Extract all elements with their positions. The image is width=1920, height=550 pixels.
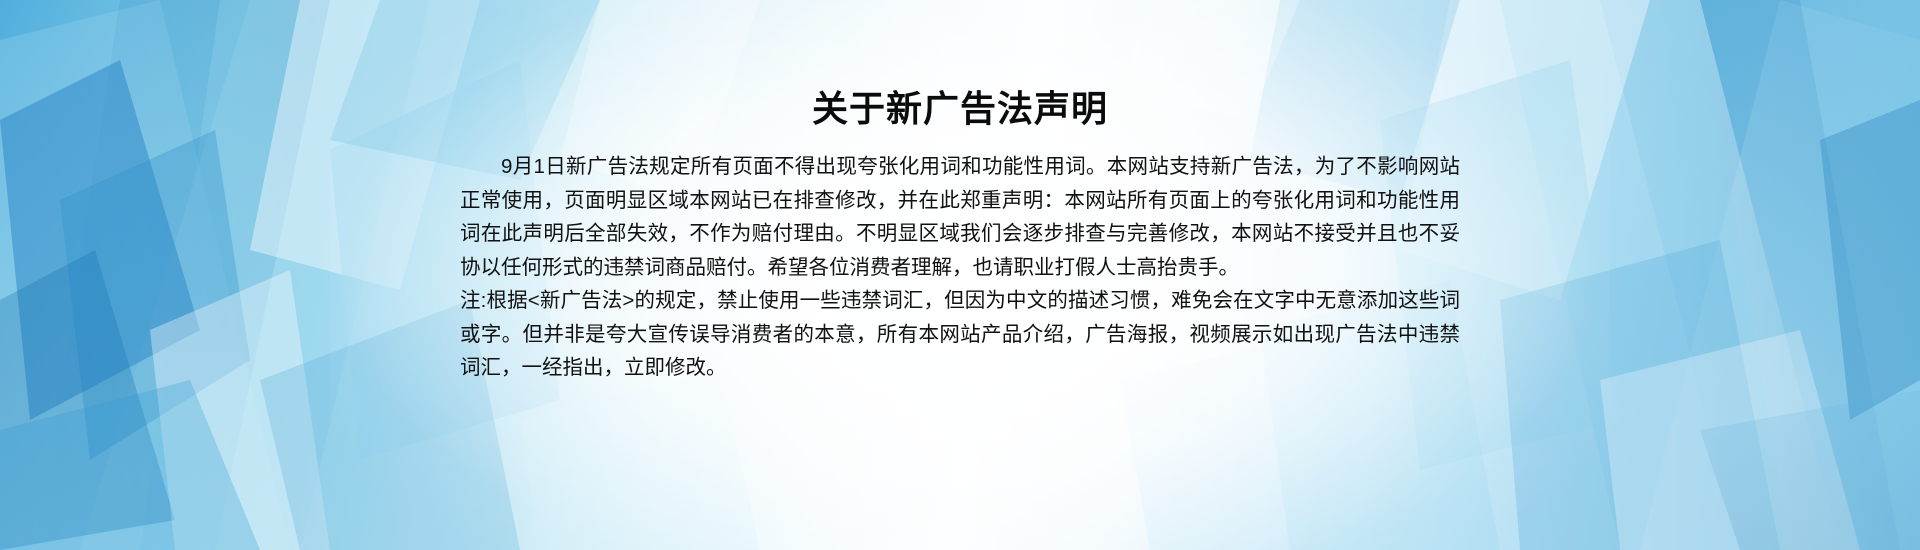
statement-note-paragraph: 注:根据<新广告法>的规定，禁止使用一些违禁词汇，但因为中文的描述习惯，难免会在…	[460, 284, 1460, 385]
statement-body-paragraph: 9月1日新广告法规定所有页面不得出现夸张化用词和功能性用词。本网站支持新广告法，…	[460, 150, 1460, 284]
banner-content: 关于新广告法声明 9月1日新广告法规定所有页面不得出现夸张化用词和功能性用词。本…	[0, 0, 1920, 550]
advertising-law-statement-banner: 关于新广告法声明 9月1日新广告法规定所有页面不得出现夸张化用词和功能性用词。本…	[0, 0, 1920, 550]
page-title: 关于新广告法声明	[0, 86, 1920, 132]
statement-text-block: 9月1日新广告法规定所有页面不得出现夸张化用词和功能性用词。本网站支持新广告法，…	[460, 150, 1460, 385]
